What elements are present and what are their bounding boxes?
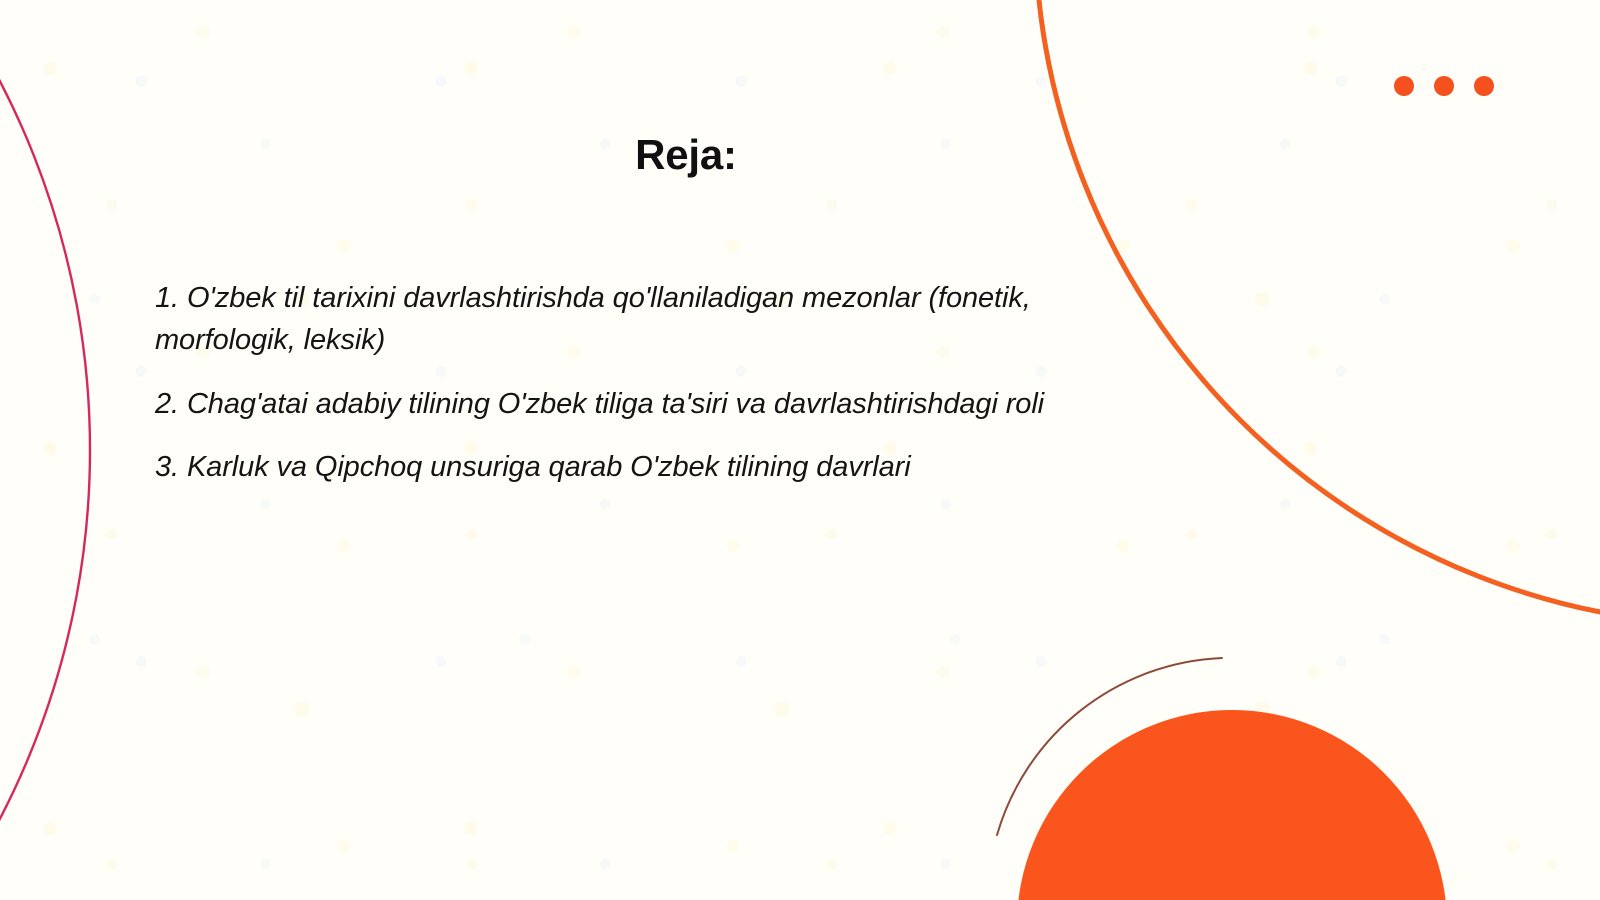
agenda-list: 1. O'zbek til tarixini davrlashtirishda … <box>155 278 1115 489</box>
dot-icon-2 <box>1434 76 1454 96</box>
three-dots-decoration <box>1394 76 1494 96</box>
slide-title: Reja: <box>0 131 1372 179</box>
orange-solid-circle-icon <box>1017 710 1447 900</box>
dot-icon-3 <box>1474 76 1494 96</box>
agenda-item-2: 2. Chag'atai adabiy tilining O'zbek tili… <box>155 384 1115 426</box>
maroon-arc-icon <box>997 658 1222 835</box>
orange-circle-outline-icon <box>1035 0 1600 625</box>
dot-icon-1 <box>1394 76 1414 96</box>
presentation-slide: Reja: 1. O'zbek til tarixini davrlashtir… <box>0 0 1600 900</box>
agenda-item-1: 1. O'zbek til tarixini davrlashtirishda … <box>155 278 1115 362</box>
agenda-item-3: 3. Karluk va Qipchoq unsuriga qarab O'zb… <box>155 447 1115 489</box>
